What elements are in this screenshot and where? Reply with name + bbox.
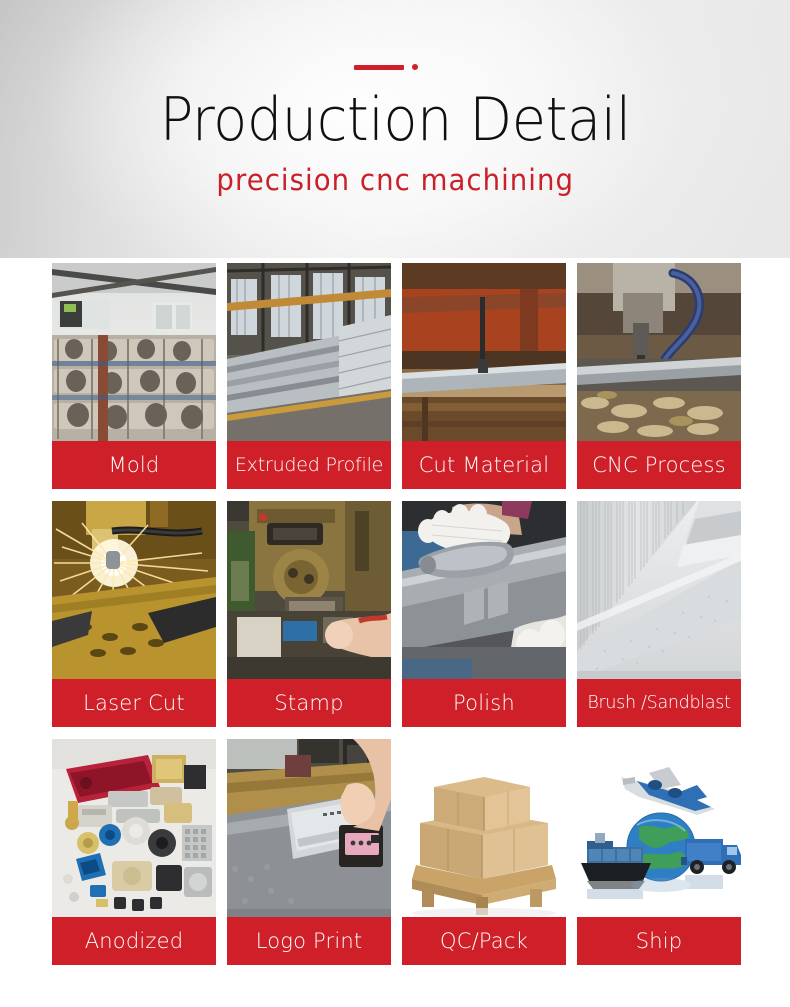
plane-globe-ship-truck-photo (577, 739, 741, 917)
process-label: Polish (402, 679, 566, 727)
process-grid: Mold (52, 263, 738, 977)
process-label: Stamp (227, 679, 391, 727)
accent-rule (330, 61, 460, 75)
header-content: Production Detail precision cnc machinin… (0, 0, 790, 258)
process-label: Laser Cut (52, 679, 216, 727)
accent-dot-icon (412, 64, 418, 70)
process-card-anodized[interactable]: Anodized (52, 739, 216, 965)
process-card-laser-cut[interactable]: Laser Cut (52, 501, 216, 727)
process-label: QC/Pack (402, 917, 566, 965)
process-label: Ship (577, 917, 741, 965)
process-row: Laser Cut (52, 501, 738, 727)
process-card-ship[interactable]: Ship (577, 739, 741, 965)
process-card-brush-sandblast[interactable]: Brush /Sandblast (577, 501, 741, 727)
laser-cutting-sparks-photo (52, 501, 216, 679)
cartons-on-pallet-photo (402, 739, 566, 917)
cutting-saw-material-photo (402, 263, 566, 441)
cnc-milling-machine-photo (577, 263, 741, 441)
process-label: CNC Process (577, 441, 741, 489)
process-row: Mold (52, 263, 738, 489)
logo-printing-pad-photo (227, 739, 391, 917)
process-row: Anodized (52, 739, 738, 965)
process-label: Brush /Sandblast (577, 679, 741, 727)
process-label: Anodized (52, 917, 216, 965)
process-label: Cut Material (402, 441, 566, 489)
anodized-coloured-parts-photo (52, 739, 216, 917)
process-label: Extruded Profile (227, 441, 391, 489)
stamping-press-operator-photo (227, 501, 391, 679)
page-title: Production Detail (159, 85, 630, 155)
page-header: Production Detail precision cnc machinin… (0, 0, 790, 258)
page-subtitle: precision cnc machining (216, 163, 574, 197)
process-label: Logo Print (227, 917, 391, 965)
process-card-stamp[interactable]: Stamp (227, 501, 391, 727)
brushed-sandblast-surface-photo (577, 501, 741, 679)
process-card-polish[interactable]: Polish (402, 501, 566, 727)
process-card-mold[interactable]: Mold (52, 263, 216, 489)
polishing-gloved-hands-photo (402, 501, 566, 679)
process-card-extruded-profile[interactable]: Extruded Profile (227, 263, 391, 489)
process-card-cut-material[interactable]: Cut Material (402, 263, 566, 489)
process-card-qc-pack[interactable]: QC/Pack (402, 739, 566, 965)
process-card-logo-print[interactable]: Logo Print (227, 739, 391, 965)
accent-bar-icon (354, 65, 404, 70)
mold-warehouse-racks-photo (52, 263, 216, 441)
process-card-cnc-process[interactable]: CNC Process (577, 263, 741, 489)
process-label: Mold (52, 441, 216, 489)
extruded-aluminium-profiles-photo (227, 263, 391, 441)
